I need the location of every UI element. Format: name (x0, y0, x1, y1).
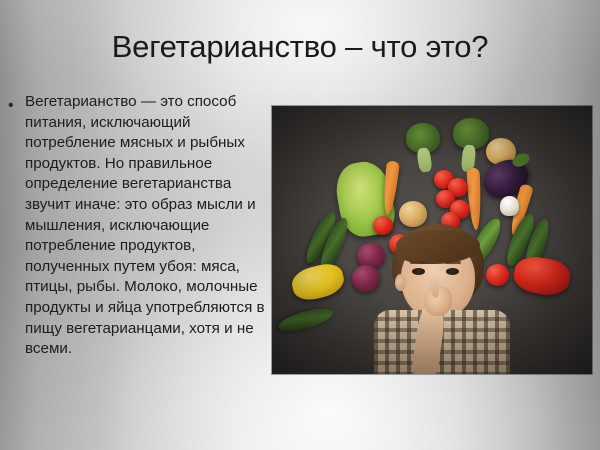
boy-subject (368, 224, 516, 374)
boy-eye-left (412, 268, 425, 275)
garlic-icon (500, 196, 519, 216)
bullet-list-item: • Вегетарианство — это способ питания, и… (8, 92, 270, 360)
body-paragraph: Вегетарианство — это способ питания, иск… (25, 92, 270, 360)
bullet-marker-icon: • (8, 92, 25, 114)
page-title: Вегетарианство – что это? (0, 28, 600, 66)
boy-eye-right (446, 268, 459, 275)
content-photograph (272, 106, 592, 374)
boy-eyebrow-left (410, 261, 426, 264)
boy-eyebrow-right (445, 261, 461, 264)
presentation-slide: Вегетарианство – что это? • Вегетарианст… (0, 0, 600, 450)
boy-ear (395, 274, 406, 291)
body-content-block: • Вегетарианство — это способ питания, и… (8, 92, 270, 360)
